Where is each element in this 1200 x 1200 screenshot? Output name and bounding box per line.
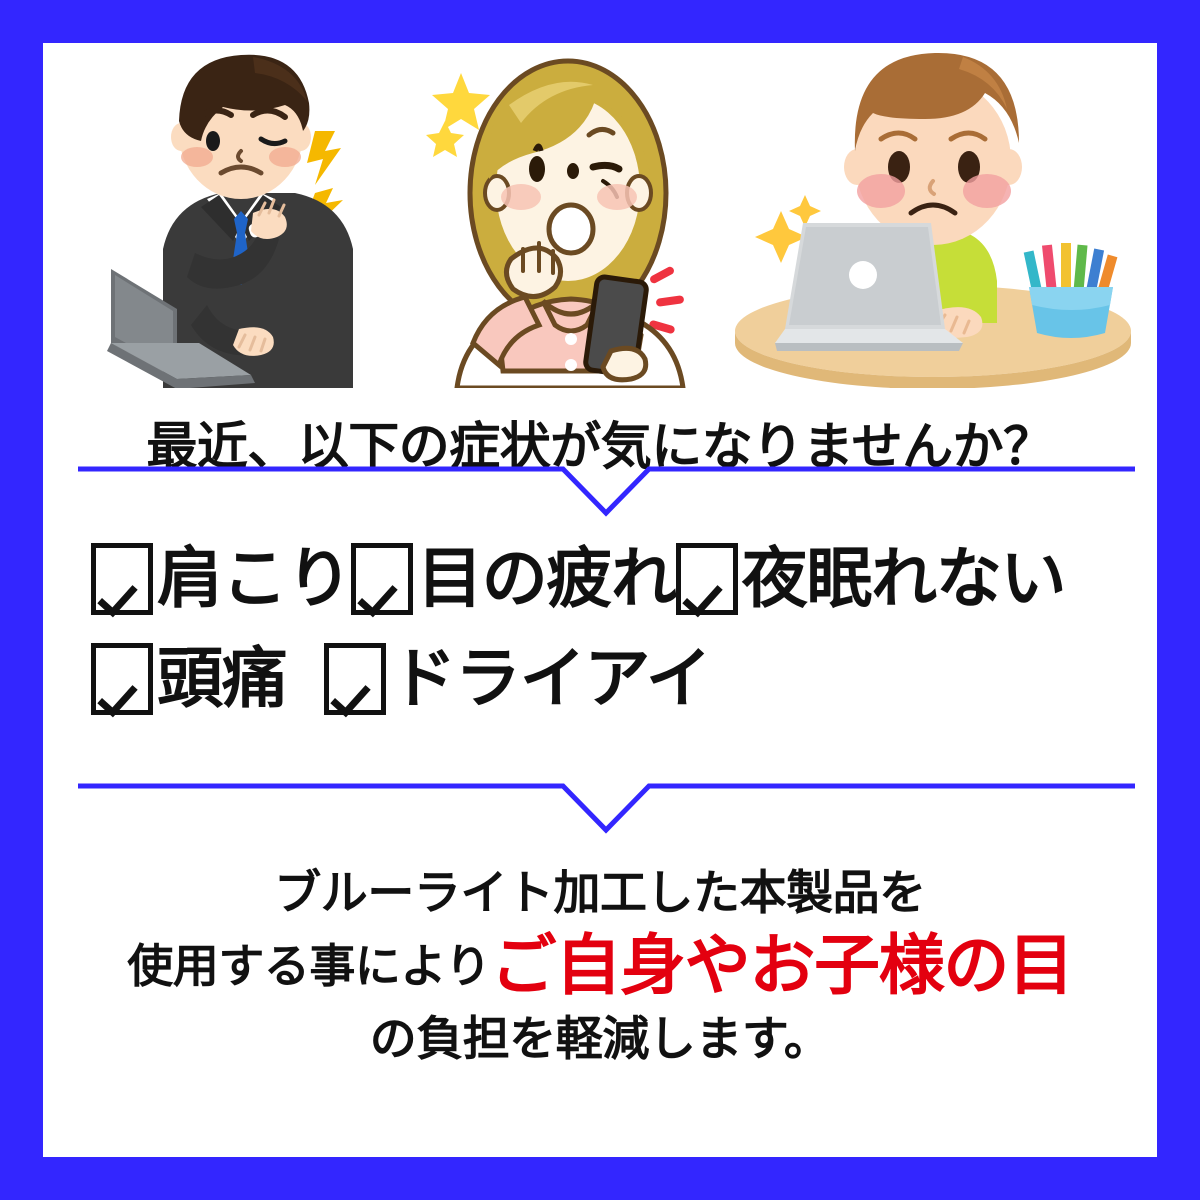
checkbox-checked-icon[interactable] bbox=[324, 643, 386, 715]
product-message: ブルーライト加工した本製品を 使用する事により ご自身やお子様の目 の負担を軽減… bbox=[43, 863, 1157, 1073]
illustration-row bbox=[43, 43, 1157, 388]
woman-phone-in-bed-illustration bbox=[413, 43, 723, 388]
chevron-divider-top bbox=[78, 461, 1135, 519]
symptom-label: 目の疲れ bbox=[417, 546, 676, 612]
checkbox-checked-icon[interactable] bbox=[91, 543, 153, 615]
symptom-item-menotsukare[interactable]: 目の疲れ bbox=[351, 543, 676, 615]
message-line-2: 使用する事により ご自身やお子様の目 bbox=[43, 925, 1157, 1007]
pencil-cup-icon bbox=[1024, 243, 1118, 338]
symptom-row: 頭痛 ドライアイ bbox=[91, 643, 710, 715]
poster-root: 最近、以下の症状が気になりませんか？ 肩こり 目の疲れ 夜眠れない bbox=[0, 0, 1200, 1200]
strain-lines-icon bbox=[648, 265, 684, 334]
checkbox-checked-icon[interactable] bbox=[351, 543, 413, 615]
message-emphasis-red: ご自身やお子様の目 bbox=[491, 933, 1073, 999]
symptom-label: 頭痛 bbox=[157, 646, 286, 712]
message-line-3: の負担を軽減します。 bbox=[43, 1007, 1157, 1073]
message-line-2-prefix: 使用する事により bbox=[127, 925, 490, 1007]
white-panel: 最近、以下の症状が気になりませんか？ 肩こり 目の疲れ 夜眠れない bbox=[43, 43, 1157, 1157]
symptom-label: 夜眠れない bbox=[742, 546, 1065, 612]
symptom-label: ドライアイ bbox=[390, 646, 710, 712]
checkbox-checked-icon[interactable] bbox=[91, 643, 153, 715]
symptom-item-doraiai[interactable]: ドライアイ bbox=[324, 643, 710, 715]
message-line-1: ブルーライト加工した本製品を bbox=[43, 863, 1157, 925]
chevron-divider-bottom bbox=[78, 778, 1135, 836]
symptom-item-katakori[interactable]: 肩こり bbox=[91, 543, 351, 615]
symptom-item-zutsuu[interactable]: 頭痛 bbox=[91, 643, 286, 715]
businessman-shoulder-pain-illustration bbox=[103, 43, 413, 388]
boy-at-laptop-illustration bbox=[723, 43, 1143, 388]
symptom-row: 肩こり 目の疲れ 夜眠れない bbox=[91, 543, 1065, 615]
symptom-item-yorunemurenai[interactable]: 夜眠れない bbox=[676, 543, 1065, 615]
symptom-label: 肩こり bbox=[157, 546, 351, 612]
checkbox-checked-icon[interactable] bbox=[676, 543, 738, 615]
symptom-checklist: 肩こり 目の疲れ 夜眠れない 頭痛 ドライアイ bbox=[43, 543, 1157, 758]
